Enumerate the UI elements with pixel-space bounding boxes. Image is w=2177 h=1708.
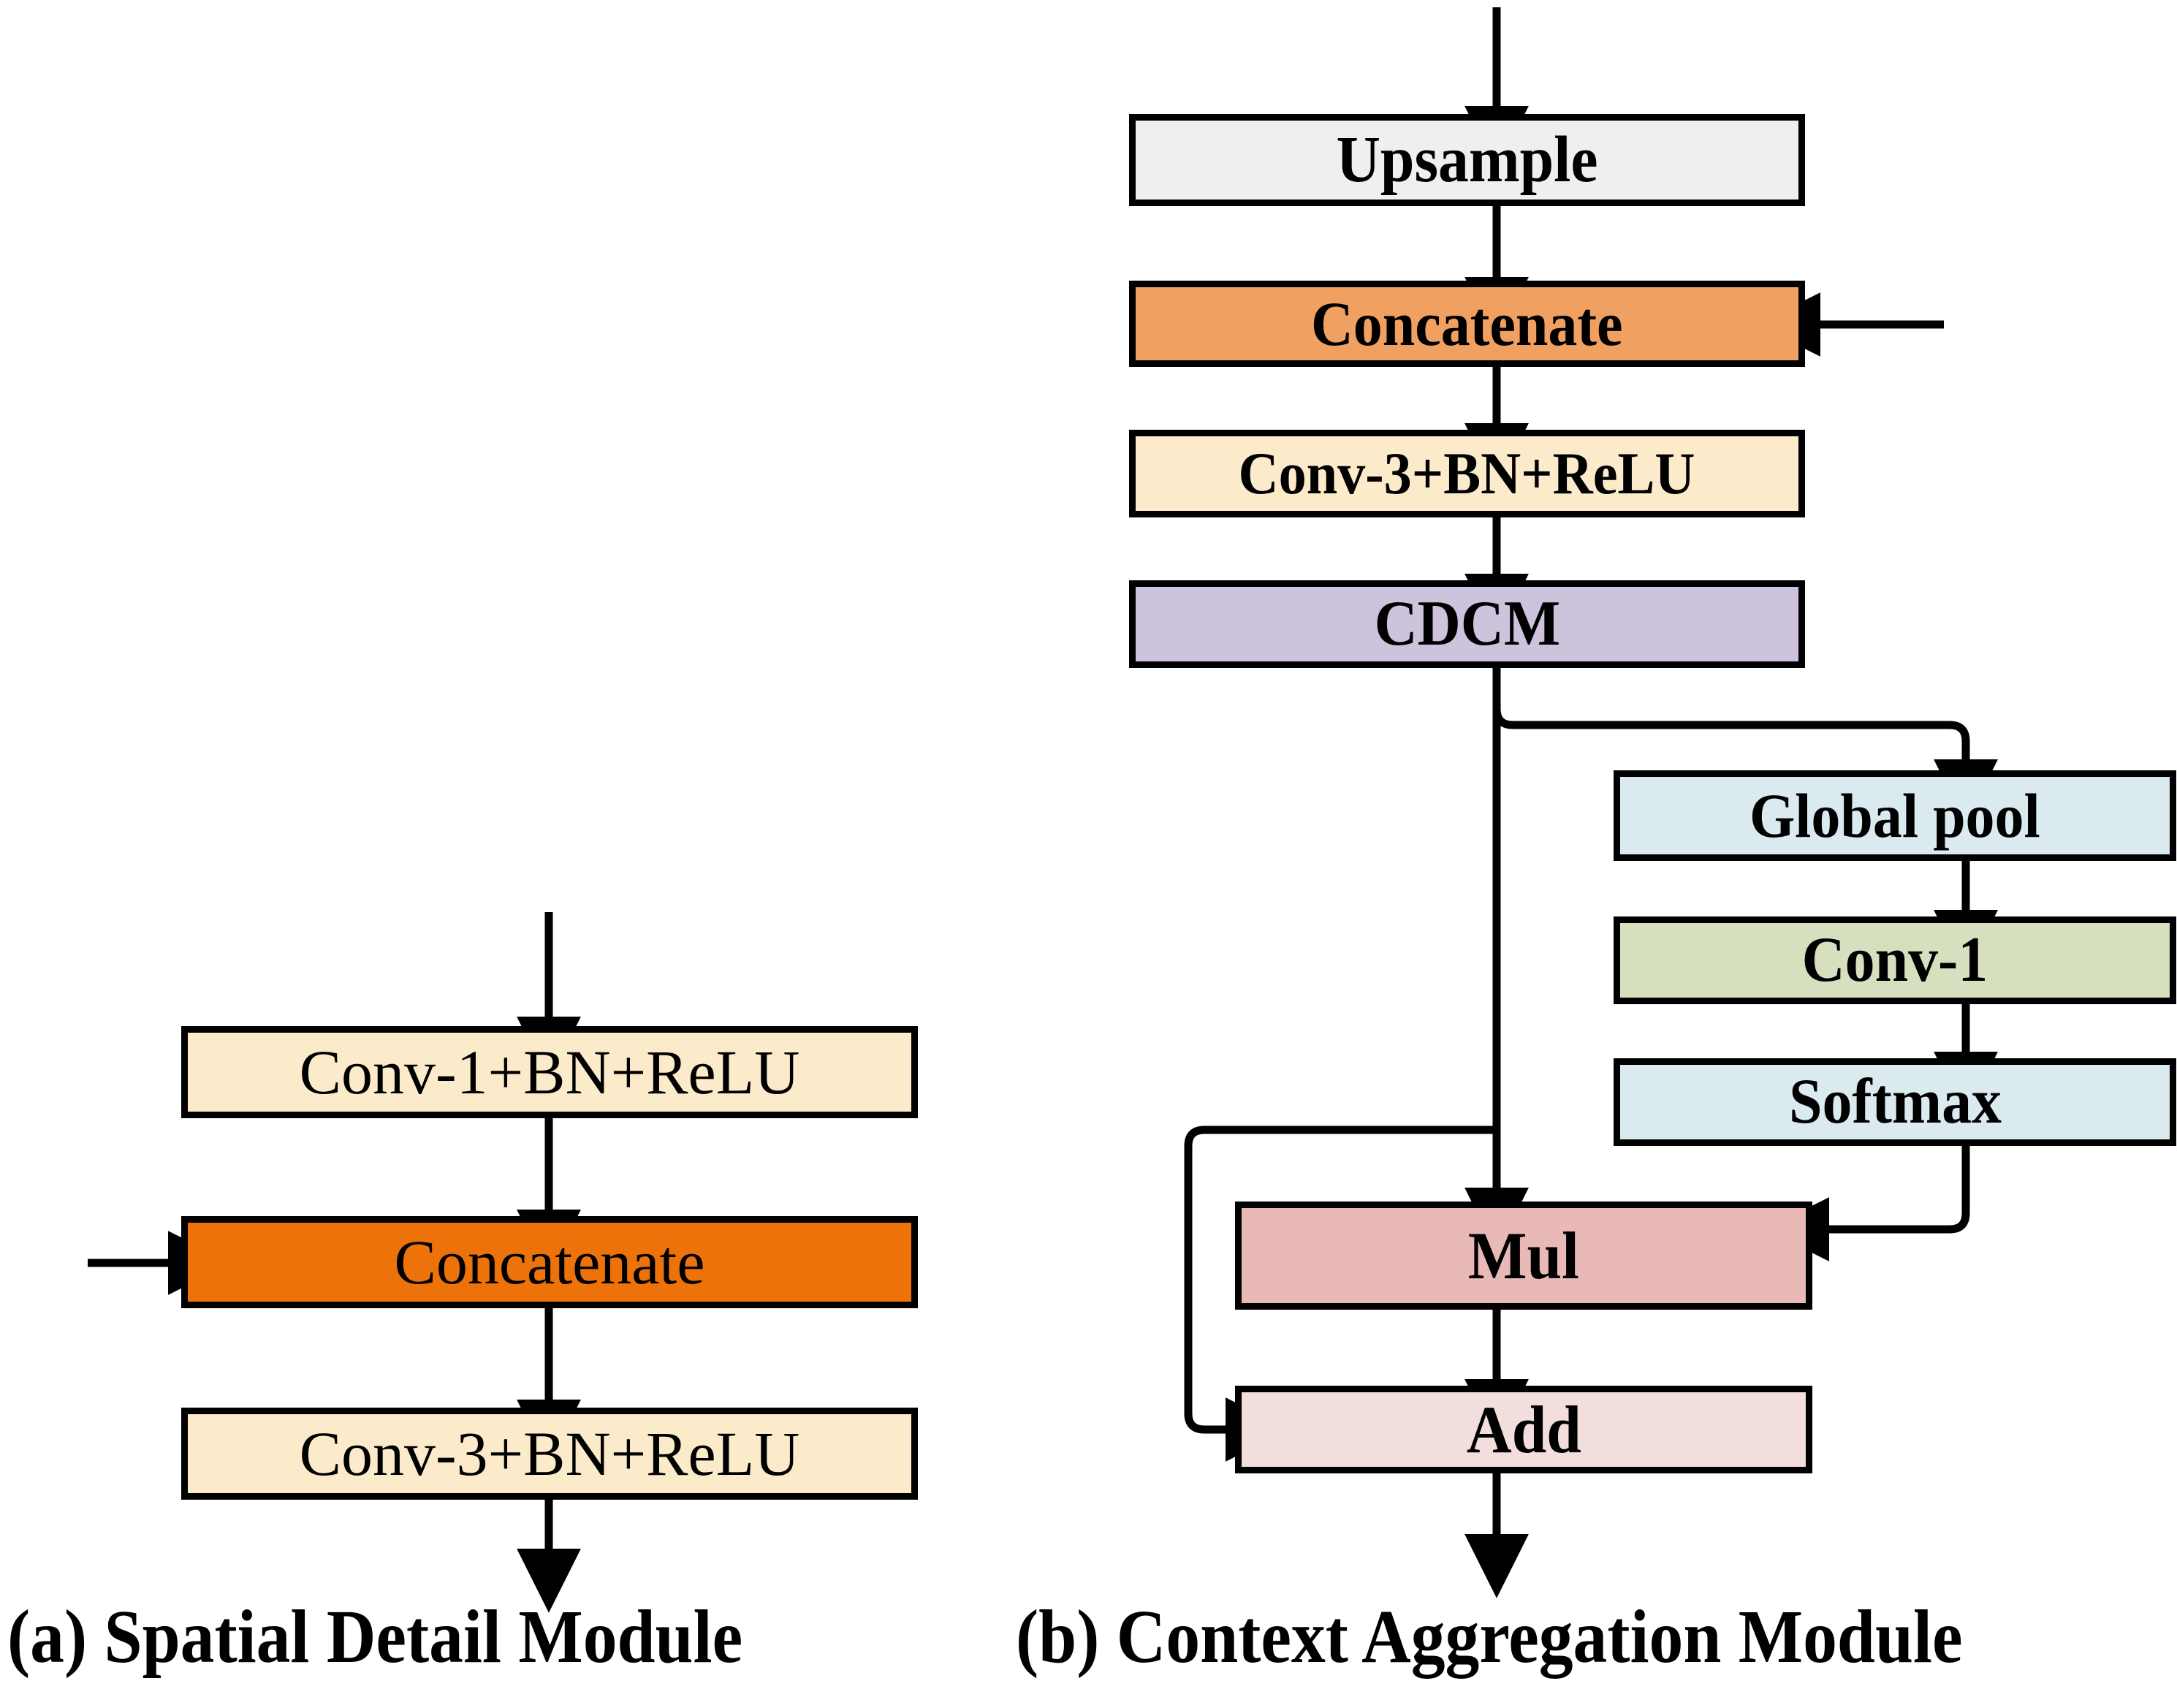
node-global-pool-b[interactable]: Global pool (1614, 770, 2176, 861)
node-label: Conv-3+BN+ReLU (300, 1422, 800, 1485)
node-mul-b[interactable]: Mul (1235, 1202, 1812, 1310)
node-label: Concatenate (1311, 292, 1622, 355)
figure-canvas: Conv-1+BN+ReLU Concatenate Conv-3+BN+ReL… (0, 0, 2177, 1708)
node-label: CDCM (1374, 592, 1560, 656)
node-upsample-b[interactable]: Upsample (1129, 114, 1805, 206)
node-cdcm-b[interactable]: CDCM (1129, 580, 1805, 668)
edge-softmax-to-mul-b (1820, 1145, 1966, 1229)
node-conv3-bn-relu-b[interactable]: Conv-3+BN+ReLU (1129, 430, 1805, 517)
node-conv3-bn-relu-a[interactable]: Conv-3+BN+ReLU (181, 1408, 918, 1500)
node-conv1-bn-relu-a[interactable]: Conv-1+BN+ReLU (181, 1026, 918, 1118)
node-label: Conv-1+BN+ReLU (300, 1041, 800, 1104)
caption-panel-b: (b) Context Aggregation Module (1016, 1599, 2068, 1675)
node-label: Mul (1468, 1222, 1579, 1289)
node-add-b[interactable]: Add (1235, 1386, 1812, 1473)
node-label: Conv-3+BN+ReLU (1239, 444, 1695, 504)
node-concatenate-a[interactable]: Concatenate (181, 1216, 918, 1308)
node-label: Upsample (1336, 127, 1597, 193)
node-label: Add (1467, 1396, 1581, 1463)
node-label: Conv-1 (1802, 928, 1988, 992)
node-label: Concatenate (394, 1231, 704, 1294)
node-label: Global pool (1749, 784, 2040, 847)
caption-panel-a: (a) Spatial Detail Module (7, 1599, 824, 1675)
edge-cdcm-branch-to-globalpool-b (1497, 691, 1966, 769)
node-conv1-b[interactable]: Conv-1 (1614, 916, 2176, 1004)
node-concatenate-b[interactable]: Concatenate (1129, 281, 1805, 367)
node-softmax-b[interactable]: Softmax (1614, 1058, 2176, 1146)
node-label: Softmax (1789, 1070, 2002, 1134)
